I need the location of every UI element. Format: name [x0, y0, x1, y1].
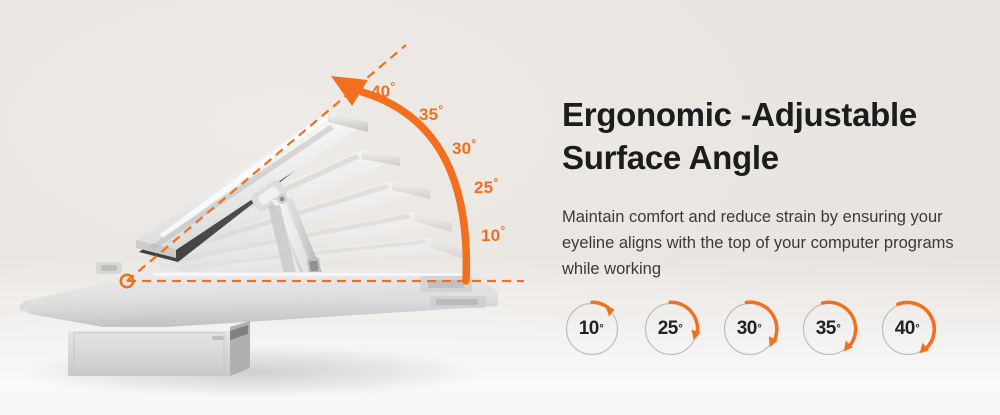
angle-badge-row: 10° 25° 30°	[562, 299, 938, 359]
badge-label-25: 25°	[641, 299, 701, 359]
product-feature-banner: 40° 35° 30° 25° 10° Ergonomic -Adjustabl…	[0, 0, 1000, 415]
headline-line-2: Surface Angle	[562, 139, 779, 176]
left-end-cap	[96, 262, 122, 274]
angle-badge-30: 30°	[720, 299, 780, 359]
headline-line-1: Ergonomic -Adjustable	[562, 96, 917, 133]
angle-annotation-35: 35°	[419, 105, 443, 125]
laptop-stand-diagram	[0, 0, 560, 415]
stand-base	[20, 272, 498, 330]
page-title: Ergonomic -Adjustable Surface Angle	[562, 94, 1000, 179]
angle-annotation-10: 10°	[481, 226, 505, 246]
badge-label-10: 10°	[562, 299, 622, 359]
badge-label-35: 35°	[799, 299, 859, 359]
angle-annotation-25: 25°	[474, 178, 498, 198]
body-text: Maintain comfort and reduce strain by en…	[562, 205, 962, 282]
badge-label-30: 30°	[720, 299, 780, 359]
angle-badge-25: 25°	[641, 299, 701, 359]
angle-annotation-30: 30°	[452, 139, 476, 159]
product-illustration: 40° 35° 30° 25° 10°	[0, 0, 560, 415]
angle-badge-35: 35°	[799, 299, 859, 359]
angle-badge-40: 40°	[878, 299, 938, 359]
angle-badge-10: 10°	[562, 299, 622, 359]
angle-annotation-40: 40°	[371, 82, 395, 102]
base-drawer	[68, 321, 250, 376]
badge-label-40: 40°	[878, 299, 938, 359]
